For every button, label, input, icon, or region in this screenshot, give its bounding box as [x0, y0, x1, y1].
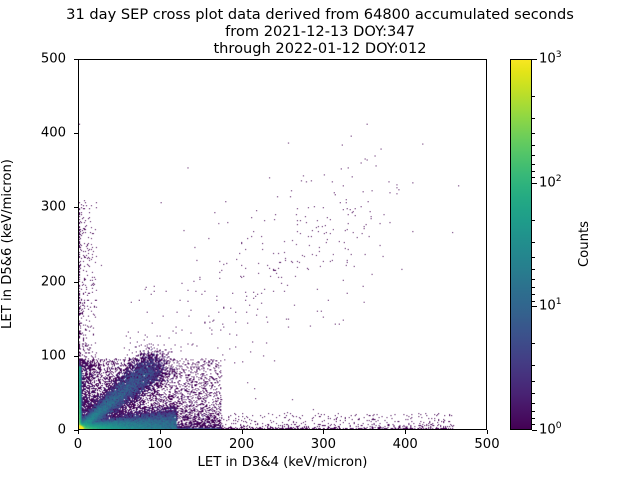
chart-title-line-2: from 2021-12-13 DOY:347: [0, 23, 640, 40]
colorbar-minor-tick: [532, 118, 535, 119]
y-tick-500: [74, 59, 78, 60]
colorbar-minor-tick: [532, 393, 535, 394]
x-tick-100: [160, 430, 161, 434]
colorbar-ticklabel-mantissa: 10: [539, 299, 556, 314]
chart-title: 31 day SEP cross plot data derived from …: [0, 6, 640, 57]
colorbar-minor-tick: [532, 403, 535, 404]
colorbar-ticklabel-mantissa: 10: [539, 423, 556, 438]
colorbar-ticklabel-exponent: 3: [556, 49, 562, 60]
colorbar-tick-10: [532, 306, 537, 307]
colorbar-minor-tick: [532, 145, 535, 146]
colorbar-tick-1: [532, 430, 537, 431]
colorbar-minor-tick: [532, 381, 535, 382]
x-ticklabel-5: 500: [474, 437, 499, 452]
colorbar-minor-tick: [532, 343, 535, 344]
colorbar-minor-tick: [532, 411, 535, 412]
colorbar-ticklabel-1: 100: [539, 423, 562, 438]
y-ticklabel-5: 500: [41, 52, 66, 67]
colorbar-minor-tick: [532, 133, 535, 134]
plot-area: [78, 59, 487, 430]
y-ticklabel-3: 300: [41, 200, 66, 215]
x-ticklabel-1: 100: [147, 437, 172, 452]
colorbar-minor-tick: [532, 301, 535, 302]
colorbar-minor-tick: [532, 279, 535, 280]
colorbar-minor-tick: [532, 287, 535, 288]
y-ticklabel-0: 0: [58, 423, 66, 438]
colorbar-ticklabel-mantissa: 10: [539, 175, 556, 190]
colorbar-ticklabel-exponent: 0: [556, 420, 562, 431]
colorbar-minor-tick: [532, 424, 535, 425]
colorbar-ticklabel-1000: 103: [539, 52, 562, 67]
colorbar-minor-tick: [532, 269, 535, 270]
colorbar-minor-tick: [532, 177, 535, 178]
x-axis-label: LET in D3&4 (keV/micron): [78, 455, 487, 470]
colorbar: [510, 59, 532, 430]
colorbar-ticklabel-mantissa: 10: [539, 52, 556, 67]
colorbar-minor-tick: [532, 242, 535, 243]
y-ticklabel-1: 100: [41, 349, 66, 364]
colorbar-tick-1000: [532, 59, 537, 60]
y-tick-200: [74, 282, 78, 283]
figure-canvas: 31 day SEP cross plot data derived from …: [0, 0, 640, 480]
x-tick-500: [487, 430, 488, 434]
colorbar-minor-tick: [532, 418, 535, 419]
x-ticklabel-2: 200: [229, 437, 254, 452]
y-ticklabel-2: 200: [41, 275, 66, 290]
colorbar-minor-tick: [532, 365, 535, 366]
colorbar-minor-tick: [532, 257, 535, 258]
x-ticklabel-3: 300: [311, 437, 336, 452]
y-tick-100: [74, 356, 78, 357]
y-tick-300: [74, 207, 78, 208]
x-tick-300: [323, 430, 324, 434]
colorbar-ticklabel-exponent: 1: [556, 296, 562, 307]
colorbar-minor-tick: [532, 164, 535, 165]
x-tick-0: [78, 430, 79, 434]
colorbar-tick-100: [532, 183, 537, 184]
colorbar-minor-tick: [532, 294, 535, 295]
colorbar-minor-tick: [532, 171, 535, 172]
colorbar-label: Counts: [577, 124, 592, 364]
x-ticklabel-4: 400: [393, 437, 418, 452]
x-tick-400: [405, 430, 406, 434]
colorbar-ticklabel-exponent: 2: [556, 173, 562, 184]
x-ticklabel-0: 0: [74, 437, 82, 452]
colorbar-ticklabel-100: 102: [539, 175, 562, 190]
y-axis-label: LET in D5&6 (keV/micron): [0, 94, 15, 394]
scatter-density-plot: [79, 60, 486, 429]
colorbar-minor-tick: [532, 96, 535, 97]
colorbar-minor-tick: [532, 155, 535, 156]
chart-title-line-1: 31 day SEP cross plot data derived from …: [0, 6, 640, 23]
y-tick-400: [74, 133, 78, 134]
colorbar-minor-tick: [532, 220, 535, 221]
colorbar-gradient: [511, 60, 531, 429]
x-tick-200: [242, 430, 243, 434]
colorbar-ticklabel-10: 101: [539, 299, 562, 314]
y-ticklabel-4: 400: [41, 126, 66, 141]
